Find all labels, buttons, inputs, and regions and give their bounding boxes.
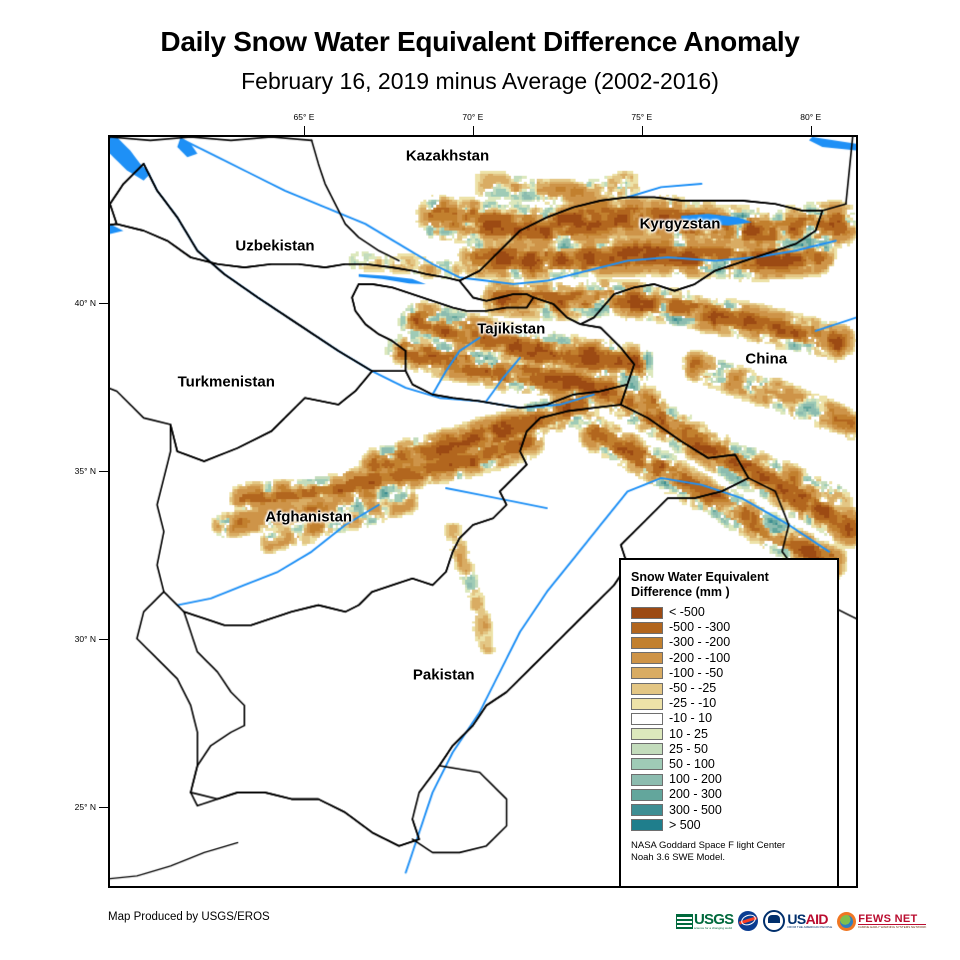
legend-label: -500 - -300 xyxy=(669,621,730,634)
country-label-kyrgyzstan: Kyrgyzstan xyxy=(640,215,721,232)
legend-row: -50 - -25 xyxy=(631,681,829,696)
usaid-logo: USAID FROM THE AMERICAN PEOPLE xyxy=(763,910,832,932)
legend-row: -500 - -300 xyxy=(631,620,829,635)
legend-swatch xyxy=(631,622,663,634)
usaid-logo-tagline: FROM THE AMERICAN PEOPLE xyxy=(787,925,832,929)
legend-label: 100 - 200 xyxy=(669,773,722,786)
country-label-afghanistan: Afghanistan xyxy=(265,509,352,526)
country-label-pakistan: Pakistan xyxy=(413,667,475,684)
country-label-kazakhstan: Kazakhstan xyxy=(406,147,489,164)
legend-swatch xyxy=(631,607,663,619)
country-label-tajikistan: Tajikistan xyxy=(477,321,545,338)
page-subtitle: February 16, 2019 minus Average (2002-20… xyxy=(0,68,960,95)
lat-tick xyxy=(99,807,108,808)
legend-row: > 500 xyxy=(631,818,829,833)
fewsnet-logo-tagline: FAMINE EARLY WARNING SYSTEMS NETWORK xyxy=(858,925,926,929)
country-label-uzbekistan: Uzbekistan xyxy=(235,238,314,255)
legend-label: -200 - -100 xyxy=(669,652,730,665)
legend-source: NASA Goddard Space F light Center Noah 3… xyxy=(631,840,829,864)
legend-label: -300 - -200 xyxy=(669,636,730,649)
usgs-logo-tagline: science for a changing world xyxy=(694,926,733,930)
legend-swatch xyxy=(631,819,663,831)
lon-tick-label: 80° E xyxy=(800,112,821,122)
lon-tick xyxy=(304,126,305,135)
legend-label: 10 - 25 xyxy=(669,728,708,741)
legend-label: -25 - -10 xyxy=(669,697,716,710)
lon-tick xyxy=(473,126,474,135)
legend-label: -50 - -25 xyxy=(669,682,716,695)
legend-label: 25 - 50 xyxy=(669,743,708,756)
legend-row: -200 - -100 xyxy=(631,651,829,666)
lat-tick-label: 40° N xyxy=(75,298,96,308)
legend-row: 200 - 300 xyxy=(631,787,829,802)
usaid-seal-icon xyxy=(763,910,785,932)
legend-swatch xyxy=(631,789,663,801)
nasa-logo xyxy=(738,910,758,932)
legend-title-line1: Snow Water Equivalent xyxy=(631,570,829,585)
map-page: Daily Snow Water Equivalent Difference A… xyxy=(0,0,960,960)
legend-label: 50 - 100 xyxy=(669,758,715,771)
fewsnet-logo: FEWS NET FAMINE EARLY WARNING SYSTEMS NE… xyxy=(837,910,926,932)
producer-credit: Map Produced by USGS/EROS xyxy=(108,911,270,923)
nasa-meatball-icon xyxy=(738,911,758,931)
legend-swatch xyxy=(631,804,663,816)
legend-row: 300 - 500 xyxy=(631,802,829,817)
lat-tick-label: 35° N xyxy=(75,466,96,476)
legend-label: 300 - 500 xyxy=(669,804,722,817)
fewsnet-globe-icon xyxy=(837,912,856,931)
legend-swatch xyxy=(631,774,663,786)
legend-label: -10 - 10 xyxy=(669,712,712,725)
legend-label: 200 - 300 xyxy=(669,788,722,801)
lon-tick xyxy=(642,126,643,135)
legend-swatch xyxy=(631,698,663,710)
fewsnet-logo-text: FEWS NET xyxy=(858,914,926,925)
usgs-logo-text: USGS xyxy=(694,913,733,926)
legend-label: -100 - -50 xyxy=(669,667,723,680)
usgs-logo: USGS science for a changing world xyxy=(676,910,733,932)
legend-title-line2: Difference (mm ) xyxy=(631,585,829,600)
legend-source-line1: NASA Goddard Space F light Center xyxy=(631,840,829,852)
legend-swatch xyxy=(631,683,663,695)
legend-swatch xyxy=(631,652,663,664)
legend-title: Snow Water Equivalent Difference (mm ) xyxy=(631,570,829,600)
legend-label: < -500 xyxy=(669,606,705,619)
lon-tick-label: 75° E xyxy=(631,112,652,122)
logo-strip: USGS science for a changing world USAID … xyxy=(676,906,926,936)
lat-tick xyxy=(99,471,108,472)
lat-tick-label: 25° N xyxy=(75,802,96,812)
usaid-logo-text: USAID xyxy=(787,913,832,925)
lon-tick xyxy=(811,126,812,135)
legend-row: 25 - 50 xyxy=(631,742,829,757)
legend-swatch xyxy=(631,728,663,740)
country-label-turkmenistan: Turkmenistan xyxy=(178,373,275,390)
legend-swatch xyxy=(631,637,663,649)
legend-row: -100 - -50 xyxy=(631,666,829,681)
legend-row: -300 - -200 xyxy=(631,635,829,650)
legend-row: < -500 xyxy=(631,605,829,620)
legend-swatch xyxy=(631,758,663,770)
lon-tick-label: 65° E xyxy=(293,112,314,122)
legend-row: 50 - 100 xyxy=(631,757,829,772)
legend-row: 10 - 25 xyxy=(631,727,829,742)
legend-swatch xyxy=(631,743,663,755)
usgs-mark-icon xyxy=(676,914,693,929)
legend-source-line2: Noah 3.6 SWE Model. xyxy=(631,852,829,864)
legend-row: 100 - 200 xyxy=(631,772,829,787)
legend-label: > 500 xyxy=(669,819,701,832)
lat-tick-label: 30° N xyxy=(75,634,96,644)
country-label-china: China xyxy=(745,351,787,368)
legend-panel: Snow Water Equivalent Difference (mm ) <… xyxy=(619,558,839,888)
legend-row: -10 - 10 xyxy=(631,711,829,726)
lat-tick xyxy=(99,639,108,640)
lon-tick-label: 70° E xyxy=(462,112,483,122)
legend-row: -25 - -10 xyxy=(631,696,829,711)
legend-swatch xyxy=(631,667,663,679)
page-title: Daily Snow Water Equivalent Difference A… xyxy=(0,26,960,58)
legend-class-list: < -500-500 - -300-300 - -200-200 - -100-… xyxy=(631,605,829,833)
lat-tick xyxy=(99,303,108,304)
legend-swatch xyxy=(631,713,663,725)
